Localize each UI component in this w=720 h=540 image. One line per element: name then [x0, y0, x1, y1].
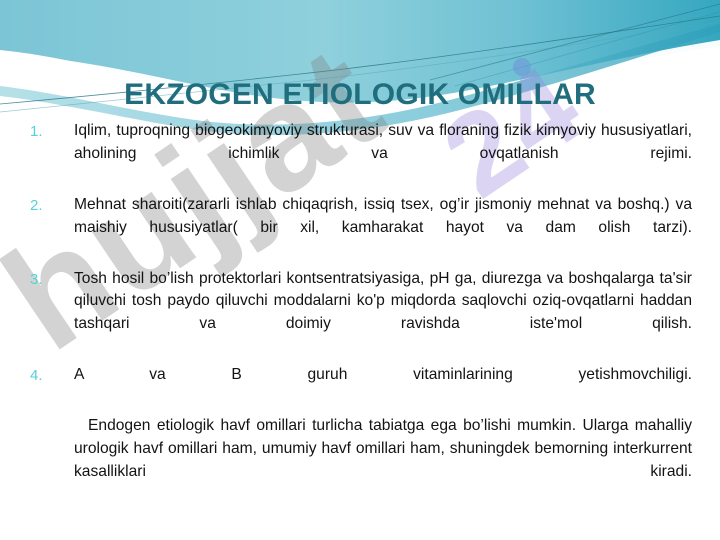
list-item-number: 1. [30, 120, 74, 143]
list-item-number: 4. [30, 364, 74, 387]
numbered-list: 1. Iqlim, tuproqning biogeokimyoviy stru… [30, 120, 692, 511]
list-item-text: Iqlim, tuproqning biogeokimyoviy struktu… [74, 120, 692, 189]
slide-canvas: hujjat 24 EKZOGEN ETIOLOGIK OMILLAR 1. I… [0, 0, 720, 540]
list-item-text: A va B guruh vitaminlarining yetishmovch… [74, 364, 692, 410]
closing-paragraph-text: Endogen etiologik havf omillari turlicha… [74, 415, 692, 507]
list-item: 4. A va B guruh vitaminlarining yetishmo… [30, 364, 692, 410]
list-item-text: Mehnat sharoiti(zararli ishlab chiqaqris… [74, 194, 692, 263]
list-item: 2. Mehnat sharoiti(zararli ishlab chiqaq… [30, 194, 692, 263]
list-item-number: 2. [30, 194, 74, 217]
list-item-number: 3. [30, 268, 74, 291]
closing-paragraph-row: Endogen etiologik havf omillari turlicha… [30, 415, 692, 507]
page-title: EKZOGEN ETIOLOGIK OMILLAR [0, 78, 720, 112]
list-item-text: Tosh hosil bo’lish protektorlari kontsen… [74, 268, 692, 360]
slide-content: EKZOGEN ETIOLOGIK OMILLAR 1. Iqlim, tupr… [0, 0, 720, 540]
list-item: 1. Iqlim, tuproqning biogeokimyoviy stru… [30, 120, 692, 189]
list-item: 3. Tosh hosil bo’lish protektorlari kont… [30, 268, 692, 360]
